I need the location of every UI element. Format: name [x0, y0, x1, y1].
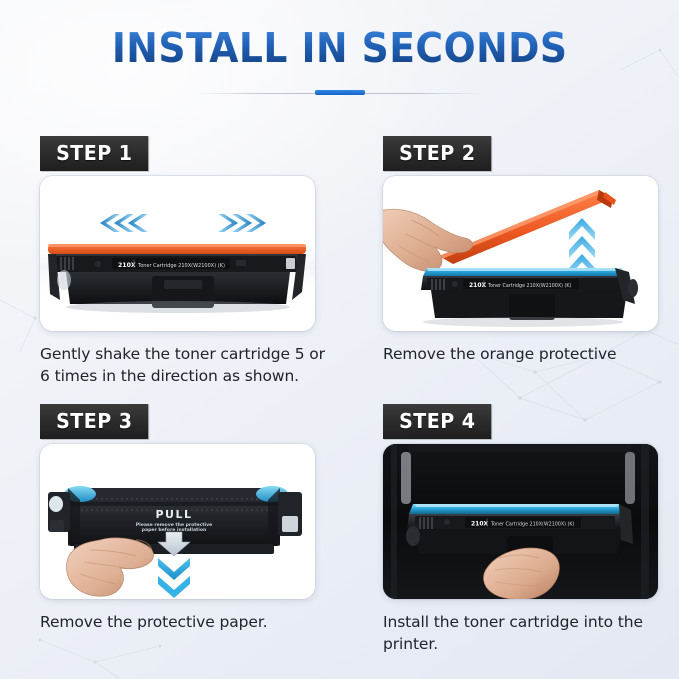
step-1-caption: Gently shake the toner cartridge 5 or 6 … — [40, 343, 335, 388]
pull-label: PULL — [155, 508, 192, 521]
step-2-caption: Remove the orange protective — [383, 343, 678, 365]
cartridge-label-text: Toner Cartridge 210X(W2100X) (K) — [490, 522, 575, 528]
step-2-image: 210X Toner Cartridge 210X(W2100X) (K) — [383, 176, 658, 331]
step-2-badge: STEP 2 — [383, 136, 492, 171]
cartridge-label-text: Toner Cartridge 210X(W2100X) (K) — [137, 263, 225, 269]
title-divider — [195, 90, 485, 98]
step-3: STEP 3 — [40, 404, 335, 633]
peel-strip-illustration: 210X Toner Cartridge 210X(W2100X) (K) — [383, 176, 658, 331]
toner-cartridge: 210X Toner Cartridge 210X(W2100X) (K) — [48, 244, 306, 313]
step-4-image: 210X Toner Cartridge 210X(W2100X) (K) — [383, 444, 658, 599]
insert-cartridge-illustration: 210X Toner Cartridge 210X(W2100X) (K) — [383, 444, 658, 599]
page-title-wrap: INSTALL IN SECONDS — [0, 28, 679, 69]
pull-paper-illustration: PULL Please remove the protective paper … — [40, 444, 315, 599]
cartridge-shake-illustration: 210X Toner Cartridge 210X(W2100X) (K) — [40, 176, 315, 331]
step-1-badge: STEP 1 — [40, 136, 149, 171]
step-1-image: 210X Toner Cartridge 210X(W2100X) (K) — [40, 176, 315, 331]
cartridge-code: 210X — [471, 521, 489, 528]
step-3-caption: Remove the protective paper. — [40, 611, 335, 633]
page-title: INSTALL IN SECONDS — [112, 28, 568, 69]
step-4: STEP 4 — [383, 404, 678, 656]
install-guide-page: INSTALL IN SECONDS STEP 1 — [0, 0, 679, 679]
step-4-badge: STEP 4 — [383, 404, 492, 439]
step-3-badge: STEP 3 — [40, 404, 149, 439]
cartridge-label-text: Toner Cartridge 210X(W2100X) (K) — [487, 283, 572, 289]
divider-accent — [315, 90, 365, 95]
step-2: STEP 2 — [383, 136, 678, 365]
step-3-image: PULL Please remove the protective paper … — [40, 444, 315, 599]
step-1: STEP 1 — [40, 136, 335, 388]
step-4-caption: Install the toner cartridge into the pri… — [383, 611, 678, 656]
cartridge-code: 210X — [118, 262, 136, 269]
